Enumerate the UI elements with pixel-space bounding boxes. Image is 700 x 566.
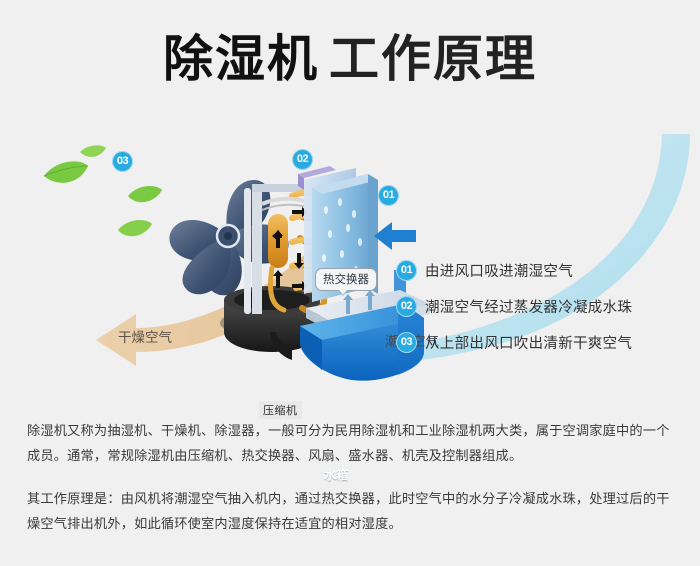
label-compressor: 压缩机 bbox=[259, 401, 302, 419]
page-title-part-two: 工作原理 bbox=[329, 31, 537, 87]
body-copy: 除湿机又称为抽湿机、干燥机、除湿器，一般可分为民用除湿机和工业除湿机两大类，属于… bbox=[27, 418, 677, 536]
legend-item-01: 01 由进风口吸进潮湿空气 bbox=[396, 252, 696, 288]
inlet-arrow bbox=[374, 222, 416, 250]
badge-01-humid-air: 01 bbox=[378, 185, 399, 206]
leaf-icon bbox=[128, 186, 162, 202]
callout-heat-exchanger: 热交换器 bbox=[315, 268, 377, 291]
page-title-part-one: 除湿机 bbox=[163, 31, 319, 87]
legend-badge-02: 02 bbox=[396, 296, 417, 317]
legend-list: 01 由进风口吸进潮湿空气 02 潮湿空气经过蒸发器冷凝成水珠 03 从上部出风… bbox=[396, 252, 696, 360]
label-dry-air: 干燥空气 bbox=[118, 326, 172, 346]
legend-item-02: 02 潮湿空气经过蒸发器冷凝成水珠 bbox=[396, 288, 696, 324]
badge-02-heat-exchanger: 02 bbox=[292, 149, 313, 170]
legend-text-01: 由进风口吸进潮湿空气 bbox=[425, 260, 573, 281]
infographic-page: 除湿机工作原理 bbox=[0, 0, 700, 566]
legend-text-03: 从上部出风口吹出清新干爽空气 bbox=[425, 332, 632, 353]
leaf-icon-group bbox=[44, 145, 162, 236]
leaf-icon bbox=[80, 145, 106, 157]
legend-item-03: 03 从上部出风口吹出清新干爽空气 bbox=[396, 324, 696, 360]
page-title: 除湿机工作原理 bbox=[0, 34, 700, 84]
leaf-icon bbox=[44, 161, 88, 182]
paragraph-definition: 除湿机又称为抽湿机、干燥机、除湿器，一般可分为民用除湿机和工业除湿机两大类，属于… bbox=[27, 418, 677, 468]
paragraph-principle: 其工作原理是：由风机将潮湿空气抽入机内，通过热交换器，此时空气中的水分子冷凝成水… bbox=[27, 486, 677, 536]
leaf-icon bbox=[118, 220, 152, 236]
legend-badge-01: 01 bbox=[396, 260, 417, 281]
badge-03-dry-air: 03 bbox=[112, 151, 133, 172]
legend-text-02: 潮湿空气经过蒸发器冷凝成水珠 bbox=[425, 296, 632, 317]
legend-badge-03: 03 bbox=[396, 332, 417, 353]
